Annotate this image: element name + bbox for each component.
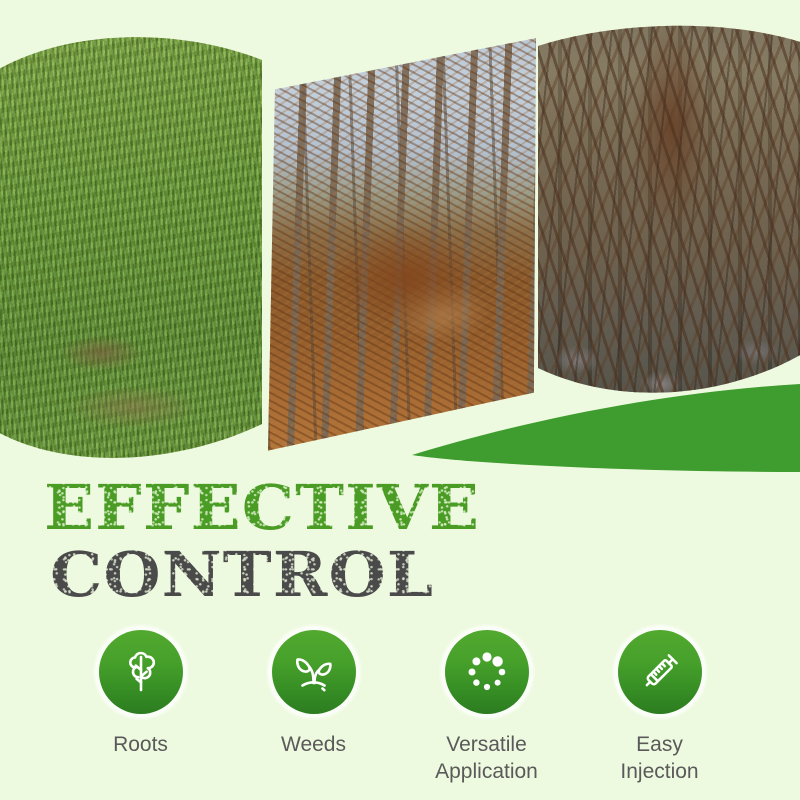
- headline-effective-text: EFFECTIVE: [44, 478, 480, 539]
- feature-versatile-application[interactable]: VersatileApplication: [400, 624, 573, 786]
- feature-versatile-badge-halo: [439, 624, 535, 720]
- feature-injection-badge: [618, 630, 702, 714]
- syringe-icon: [635, 647, 685, 697]
- photo-exposed-roots-image: [532, 16, 800, 416]
- headline-line-effective: EFFECTIVE: [44, 478, 786, 539]
- headline-control-text: CONTROL: [50, 545, 434, 606]
- feature-roots[interactable]: Roots: [54, 624, 227, 759]
- headline-line-control: CONTROL: [50, 545, 786, 606]
- photo-exposed-roots: [532, 16, 800, 416]
- feature-easy-injection[interactable]: EasyInjection: [573, 624, 746, 786]
- feature-injection-badge-halo: [612, 624, 708, 720]
- photo-collage: [0, 0, 800, 470]
- feature-versatile-badge: [445, 630, 529, 714]
- feature-injection-label: EasyInjection: [620, 732, 698, 786]
- headline-block: EFFECTIVE CONTROL: [44, 478, 744, 606]
- feature-weeds[interactable]: Weeds: [227, 624, 400, 759]
- photo-uprooted-tree: [268, 18, 536, 464]
- promo-banner: EFFECTIVE CONTROL: [0, 0, 800, 800]
- tree-icon: [117, 648, 165, 696]
- feature-roots-badge: [99, 630, 183, 714]
- photo-grass-field-image: [0, 20, 262, 470]
- feature-versatile-label: VersatileApplication: [435, 732, 538, 786]
- feature-weeds-badge-halo: [266, 624, 362, 720]
- dots-ring-icon: [462, 647, 512, 697]
- feature-roots-label: Roots: [113, 732, 168, 759]
- sprout-icon: [289, 647, 339, 697]
- photo-grass-field: [0, 20, 262, 470]
- feature-weeds-label: Weeds: [281, 732, 346, 759]
- feature-row: Roots Weeds: [0, 624, 800, 794]
- photo-uprooted-tree-image: [268, 18, 536, 464]
- feature-weeds-badge: [272, 630, 356, 714]
- feature-roots-badge-halo: [93, 624, 189, 720]
